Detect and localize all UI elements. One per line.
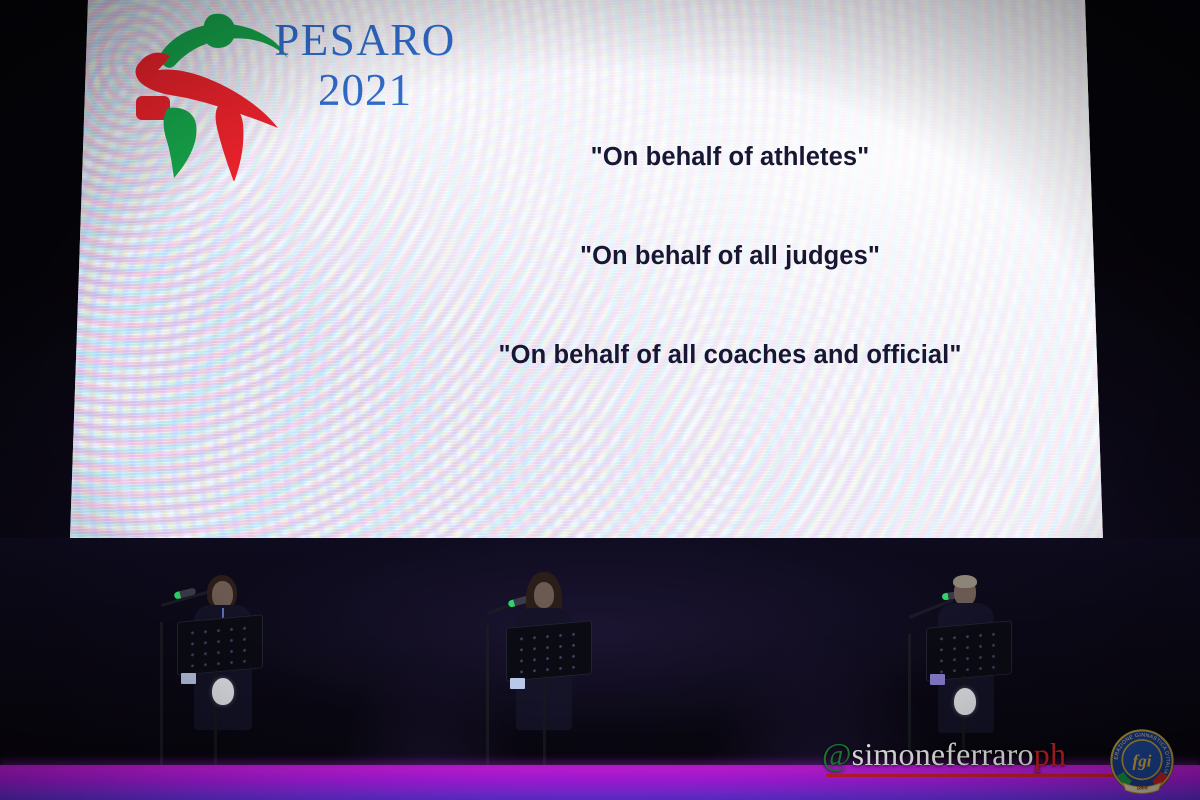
at-symbol-icon: @ <box>822 736 852 772</box>
photographer-watermark: @simoneferraroph <box>822 736 1066 773</box>
speaker-athlete <box>150 570 340 770</box>
oath-quote-line: "On behalf of athletes" <box>370 141 1090 174</box>
mic-stand-pole <box>160 622 163 770</box>
speaker-hair <box>953 575 977 588</box>
fgi-federation-badge: fgi FEDERAZIONE GINNASTICA D'ITALIA 1869 <box>1108 727 1176 795</box>
accreditation-badge <box>930 674 945 685</box>
watermark-underline <box>826 774 1116 777</box>
speaker-head <box>534 582 554 608</box>
svg-text:fgi: fgi <box>1133 751 1152 770</box>
projection-screen: PESARO 2021 "On behalf of athletes" "On … <box>70 0 1105 541</box>
mic-stand-pole <box>486 626 489 770</box>
music-stand <box>177 614 263 676</box>
accreditation-badge <box>181 673 196 684</box>
face-mask <box>954 688 976 715</box>
music-stand-perforations <box>186 622 254 668</box>
oath-text-block: "On behalf of athletes" "On behalf of al… <box>370 8 1090 541</box>
music-stand <box>926 620 1012 682</box>
watermark-suffix: ph <box>1034 736 1066 772</box>
music-stand <box>506 620 592 682</box>
svg-text:1869: 1869 <box>1136 786 1147 792</box>
oath-quotes: "On behalf of athletes" "On behalf of al… <box>370 74 1090 439</box>
accreditation-badge <box>510 678 525 689</box>
music-stand-perforations <box>515 628 583 674</box>
speaker-judge <box>470 570 660 770</box>
music-stand-perforations <box>935 628 1003 674</box>
oath-quote-line: "On behalf of all judges" <box>370 240 1090 273</box>
watermark-handle: simoneferraro <box>852 736 1034 772</box>
speaker-head <box>212 581 233 608</box>
auditorium-scene: PESARO 2021 "On behalf of athletes" "On … <box>0 0 1200 800</box>
text-gap <box>370 505 1090 541</box>
oath-quote-line: "On behalf of all coaches and official" <box>370 339 1090 372</box>
face-mask <box>212 678 234 705</box>
